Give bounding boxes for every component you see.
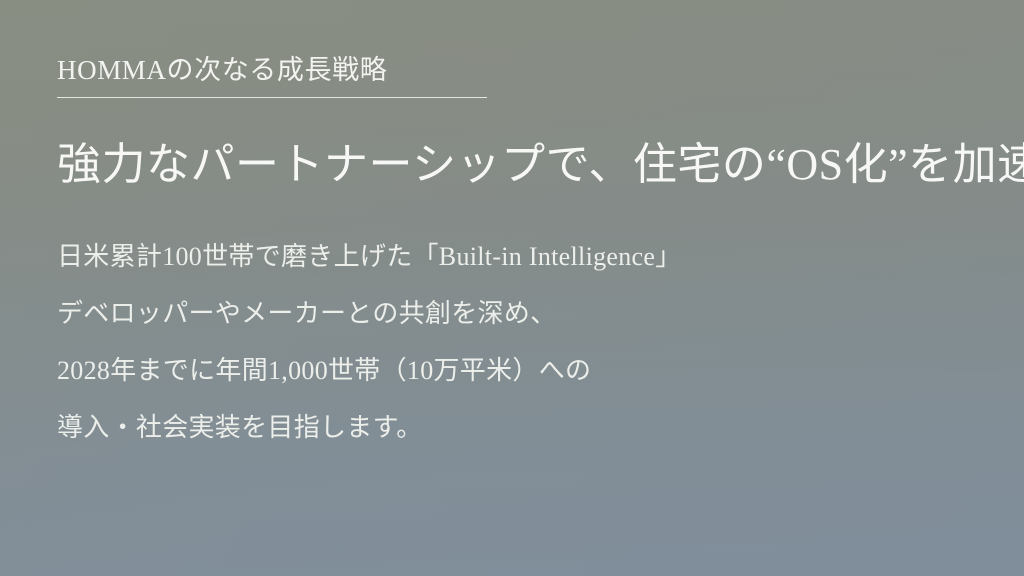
slide-canvas: HOMMAの次なる成長戦略 強力なパートナーシップで、住宅の“OS化”を加速 日…	[0, 0, 1024, 576]
slide-body: 日米累計100世帯で磨き上げた「Built-in Intelligence」 デ…	[57, 228, 1024, 456]
eyebrow-divider	[57, 97, 487, 98]
body-line-4: 導入・社会実装を目指します。	[57, 399, 1024, 456]
section-eyebrow-title: HOMMAの次なる成長戦略	[57, 52, 487, 88]
body-line-2: デベロッパーやメーカーとの共創を深め、	[57, 285, 1024, 342]
slide-content: HOMMAの次なる成長戦略 強力なパートナーシップで、住宅の“OS化”を加速 日…	[0, 0, 1024, 456]
body-line-3: 2028年までに年間1,000世帯（10万平米）への	[57, 342, 1024, 399]
eyebrow-block: HOMMAの次なる成長戦略	[57, 52, 487, 98]
slide-headline: 強力なパートナーシップで、住宅の“OS化”を加速	[57, 139, 1024, 192]
body-line-1: 日米累計100世帯で磨き上げた「Built-in Intelligence」	[57, 228, 1024, 285]
